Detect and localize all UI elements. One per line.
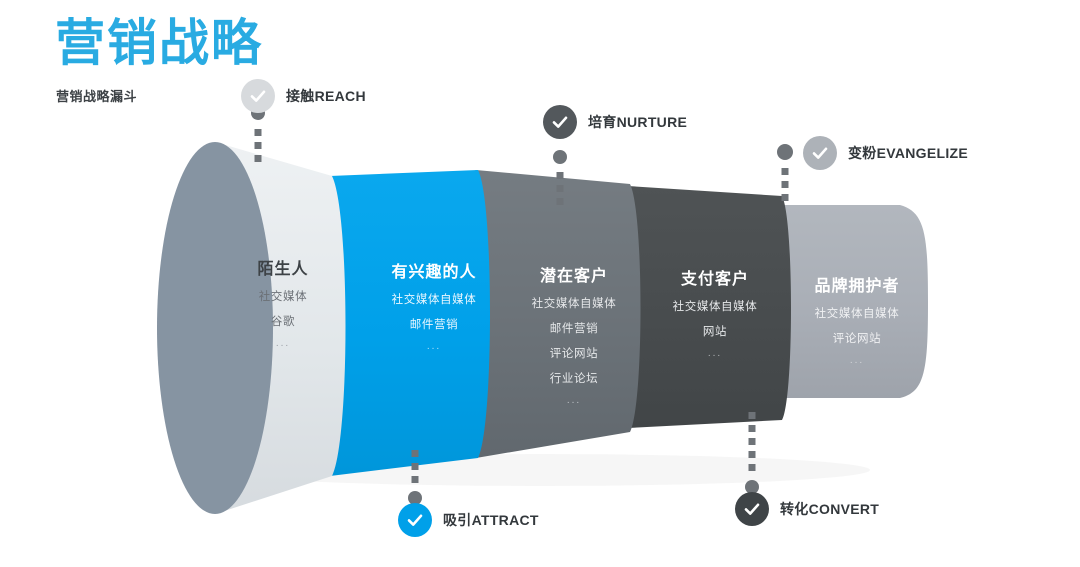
callout-label: 变粉EVANGELIZE [848, 143, 968, 163]
check-circle-icon [543, 105, 577, 139]
callout-nurture[interactable]: 培育NURTURE [543, 105, 687, 139]
callout-label: 接触REACH [286, 86, 366, 106]
callout-convert[interactable]: 转化CONVERT [735, 492, 879, 526]
segment-body-4 [628, 186, 791, 428]
slide-canvas: 营销战略 营销战略漏斗 [0, 0, 1080, 567]
callout-label: 吸引ATTRACT [443, 510, 539, 530]
check-circle-icon [735, 492, 769, 526]
check-circle-icon [803, 136, 837, 170]
segment-body-5 [780, 205, 928, 398]
callout-label: 培育NURTURE [588, 112, 687, 132]
marketing-funnel-graphic [0, 0, 1080, 567]
funnel-mouth-inner [157, 142, 273, 514]
funnel-segment-strangers[interactable] [157, 142, 346, 514]
check-circle-icon [241, 79, 275, 113]
connector-evangelize [777, 144, 793, 201]
segment-body-3 [476, 170, 641, 458]
callout-reach[interactable]: 接触REACH [241, 79, 366, 113]
callout-label: 转化CONVERT [780, 499, 879, 519]
callout-evangelize[interactable]: 变粉EVANGELIZE [803, 136, 968, 170]
callout-attract[interactable]: 吸引ATTRACT [398, 503, 539, 537]
check-circle-icon [398, 503, 432, 537]
segment-body-2 [330, 170, 490, 476]
